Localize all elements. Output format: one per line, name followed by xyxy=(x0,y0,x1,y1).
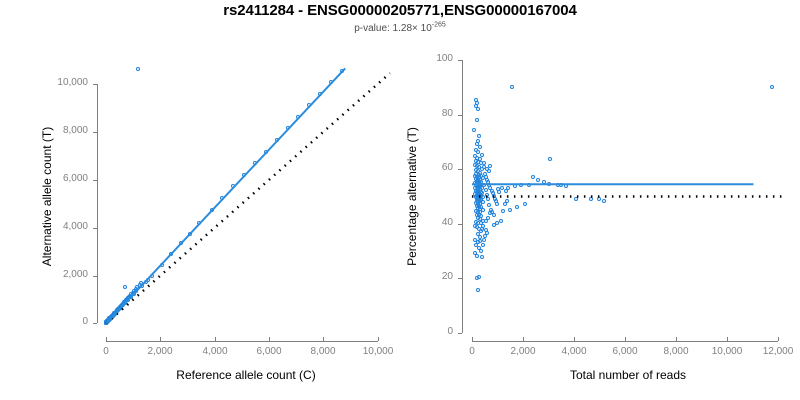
x-axis-tick xyxy=(323,337,324,341)
y-axis-tick xyxy=(93,84,97,85)
y-axis-title-left: Alternative allele count (T) xyxy=(40,60,54,333)
y-axis-tick-label: 40 xyxy=(393,217,453,228)
reference-line xyxy=(106,73,390,323)
x-axis-tick xyxy=(727,337,728,341)
y-axis-tick-label: 6,000 xyxy=(28,173,88,184)
panel-reads-vs-percentage: 02040608010002,0004,0006,0008,00010,0001… xyxy=(400,0,800,400)
x-axis-tick xyxy=(269,337,270,341)
y-axis-tick xyxy=(93,228,97,229)
figure-root: rs2411284 - ENSG00000205771,ENSG00000167… xyxy=(0,0,800,400)
fit-line xyxy=(106,68,345,323)
y-axis-tick-label: 0 xyxy=(393,326,453,337)
panel-reference-vs-alternative: 02,0004,0006,0008,00010,00002,0004,0006,… xyxy=(0,0,400,400)
x-axis-tick-label: 0 xyxy=(76,346,136,357)
x-axis-tick-label: 2,000 xyxy=(130,346,190,357)
x-axis-tick xyxy=(378,337,379,341)
x-axis-tick xyxy=(106,337,107,341)
y-axis-tick-label: 10,000 xyxy=(28,77,88,88)
x-axis-tick-label: 4,000 xyxy=(185,346,245,357)
y-axis-tick xyxy=(458,169,462,170)
y-axis-tick xyxy=(458,60,462,61)
x-axis-tick xyxy=(160,337,161,341)
trend-lines-overlay xyxy=(98,60,394,333)
y-axis-tick-label: 8,000 xyxy=(28,125,88,136)
y-axis-tick xyxy=(93,180,97,181)
trend-lines-overlay xyxy=(463,60,793,333)
plot-area-right: 02040608010002,0004,0006,0008,00010,0001… xyxy=(463,60,793,333)
x-axis-tick xyxy=(523,337,524,341)
x-axis-title-left: Reference allele count (C) xyxy=(98,368,394,382)
y-axis-tick-label: 60 xyxy=(393,162,453,173)
x-axis-tick-label: 10,000 xyxy=(348,346,408,357)
x-axis-tick xyxy=(778,337,779,341)
y-axis-tick xyxy=(93,323,97,324)
y-axis-tick xyxy=(458,115,462,116)
x-axis-line xyxy=(106,341,378,342)
plot-area-left: 02,0004,0006,0008,00010,00002,0004,0006,… xyxy=(98,60,394,333)
x-axis-title-right: Total number of reads xyxy=(463,368,793,382)
y-axis-tick-label: 2,000 xyxy=(28,269,88,280)
y-axis-tick-label: 4,000 xyxy=(28,221,88,232)
x-axis-tick-label: 8,000 xyxy=(293,346,353,357)
y-axis-tick xyxy=(458,333,462,334)
x-axis-tick-label: 6,000 xyxy=(239,346,299,357)
y-axis-tick xyxy=(93,276,97,277)
x-axis-tick xyxy=(676,337,677,341)
y-axis-tick-label: 0 xyxy=(28,316,88,327)
x-axis-line xyxy=(472,341,778,342)
y-axis-tick xyxy=(458,278,462,279)
y-axis-tick-label: 80 xyxy=(393,108,453,119)
y-axis-tick-label: 20 xyxy=(393,271,453,282)
y-axis-title-right: Percentage alternative (T) xyxy=(405,60,419,333)
x-axis-tick-label: 12,000 xyxy=(748,346,800,357)
x-axis-tick xyxy=(625,337,626,341)
y-axis-tick-label: 100 xyxy=(393,53,453,64)
y-axis-tick xyxy=(458,224,462,225)
x-axis-tick xyxy=(215,337,216,341)
x-axis-tick xyxy=(574,337,575,341)
x-axis-tick xyxy=(472,337,473,341)
y-axis-tick xyxy=(93,132,97,133)
